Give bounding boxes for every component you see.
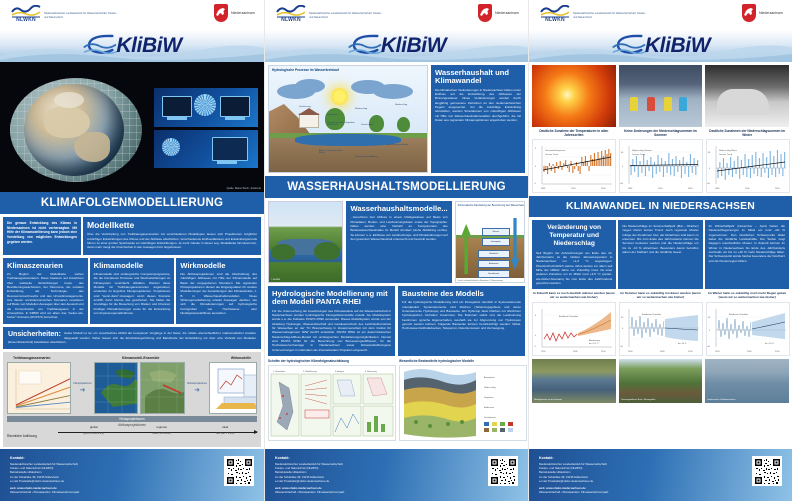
cycle-label: Verdunstung <box>299 106 311 108</box>
boot-icon <box>630 97 638 111</box>
contact-heading: Kontakt: <box>275 456 344 460</box>
wasserhaushalt-klimawandel-box: Wasserhaushalt und Klimawandel Die klima… <box>431 65 525 173</box>
panel-bausteine: Bausteine des Modells Für die hydrologis… <box>398 286 525 356</box>
figure-body: AtmosphäreNiederschlag VegetationBodenzo… <box>399 365 527 441</box>
panel-text: Für die hydrologische Modellierung wird … <box>402 300 521 330</box>
nlwkn-wordmark: NLWKN <box>540 17 570 23</box>
side-text: Die klimatischen Veränderungen in Nieder… <box>435 88 521 123</box>
poster-klimafolgenmodellierung: NLWKN Niedersächsischer Landesbetrieb fü… <box>0 0 264 501</box>
poster3-projection-charts: Bandbreite ProjektionAbweichungbis +3,5 … <box>529 302 792 359</box>
poster2-top-row: Hydrologische Prozesse im Wasserkreislau… <box>265 62 528 176</box>
contact-block: Kontakt: Niedersächsischer Landesbetrieb… <box>539 456 608 494</box>
schematic-title: Schematische Darstellung der Berechnung … <box>458 204 525 207</box>
projection-caption: Im Sommer kann es zukünftig trockener we… <box>619 292 703 300</box>
schematic-box: Grundwasser <box>478 270 510 278</box>
schematic-box: Interzeption <box>482 238 510 246</box>
poster3-observed-charts: JahresmitteltemperaturLinearer Trend 30-… <box>529 139 792 196</box>
contact-heading: Kontakt: <box>539 456 608 460</box>
klibiw-wordmark: KliBiW <box>381 34 446 58</box>
resolution-scale: Räumliche Auflösung global grob (150-200… <box>7 429 257 445</box>
poster2-title: WASSERHAUSHALTSMODELLIERUNG <box>265 176 528 198</box>
poster-klimawandel-niedersachsen: NLWKN Niedersächsischer Landesbetrieb fü… <box>528 0 792 501</box>
poster2-two-panels: Hydrologische Modellierung mit dem Model… <box>265 286 528 359</box>
schematic-box: Oberfläche <box>478 250 510 258</box>
klibiw-banner: KliBiW <box>529 30 792 62</box>
chain-heading-impact: Wirkmodelle <box>231 356 251 360</box>
contact-email[interactable]: e-mail: Poststelle@nlwkn.niedersachsen.d… <box>539 479 608 483</box>
resolution-tick: regional mittel (10-50 km) <box>136 425 186 435</box>
svg-text:3. Analyse: 3. Analyse <box>335 370 345 373</box>
svg-text:bis +3,5 °C: bis +3,5 °C <box>589 343 599 345</box>
contact-web-path: Wasserwirtschaft › Klimawandel › Klimawa… <box>10 490 79 494</box>
intro-lead-box: Die genaue Entwicklung des Klimas in Nie… <box>3 217 81 255</box>
qr-code[interactable] <box>488 456 518 486</box>
chart-winter-precip-projection: Bandbreite Projektionbis +20 % 600-40 19… <box>706 302 790 356</box>
footer-contact: Kontakt: Niedersächsischer Landesbetrieb… <box>529 449 792 501</box>
niedersachsen-logo: Niedersachsen <box>478 4 519 22</box>
poster3-title: KLIMAWANDEL IN NIEDERSACHSEN <box>529 196 792 217</box>
column-text: Die Abflussprojektionen sind die Abschät… <box>180 272 257 315</box>
poster-sheet: NLWKN Niedersächsischer Landesbetrieb fü… <box>0 0 792 501</box>
chain-headings: Treibhausgasszenarien Klimamodell-Ensemb… <box>7 356 257 360</box>
svg-text:1. Klimadaten: 1. Klimadaten <box>273 370 285 373</box>
niedersachsen-label: Niedersachsen <box>759 11 783 15</box>
svg-text:Linearer Trend: Linearer Trend <box>545 154 558 156</box>
nlwkn-org-name: Niedersächsischer Landesbetrieb für Wass… <box>44 5 118 19</box>
cloud-icon <box>295 79 325 93</box>
masthead: NLWKN Niedersächsischer Landesbetrieb fü… <box>529 0 792 30</box>
figure-soil-layers: Wesentliche Bestandteile hydrologischer … <box>399 359 527 441</box>
low-water-photo: Niedrigwasser an der Innerste <box>532 359 616 403</box>
svg-text:Niederschlag: Niederschlag <box>484 387 496 389</box>
photo-caption: Keine Änderungen der Niederschlagsummen … <box>619 129 703 137</box>
poster2-wh-row: © NLWKN Wasserhaushaltsmodelle... ...ber… <box>265 198 528 286</box>
svg-text:2. Modellierung: 2. Modellierung <box>303 371 317 373</box>
boot-icon <box>679 97 687 111</box>
panel-panta-rhei: Hydrologische Modellierung mit dem Model… <box>268 286 395 356</box>
globe-icon <box>162 138 180 156</box>
nlwkn-org-name: Niedersächsischer Landesbetrieb für Wass… <box>573 5 647 19</box>
intro-lead-text: Die genaue Entwicklung des Klimas in Nie… <box>7 221 77 244</box>
wh-text: ...berechnen den Abfluss in einem Fließg… <box>350 215 447 241</box>
poster3-bottom-photos: Niedrigwasser an der Innerste Trockengef… <box>529 359 792 407</box>
monitor-icon <box>162 96 192 117</box>
klibiw-logo: KliBiW <box>347 33 446 59</box>
panel-text: Für die Untersuchung der Auswirkungen de… <box>272 309 391 352</box>
column-heading: Klimaszenarien <box>7 262 84 270</box>
column-lead: Veränderung von Temperatur und Niedersch… <box>532 220 616 289</box>
poster3-projection-captions: In Zukunft kann es noch deutlich wärmer … <box>529 292 792 302</box>
flood-photo: Hochwasser in Niedersachsen <box>705 359 789 403</box>
svg-text:Atmosphäre: Atmosphäre <box>484 376 496 379</box>
wh-heading: Wasserhaushaltsmodelle... <box>350 205 447 213</box>
photo-credit: © NLWKN <box>271 279 280 281</box>
niedersachsen-label: Niedersachsen <box>231 11 255 15</box>
water-cycle-title: Hydrologische Prozesse im Wasserkreislau… <box>272 68 339 72</box>
lead-text: Seit Beginn der Aufzeichnungen am Ende d… <box>536 251 612 286</box>
modellkette-box: Modellkette Über die Verknüpfung von Tre… <box>83 217 261 255</box>
svg-text:Niederschlag Winter: Niederschlag Winter <box>719 149 737 152</box>
side-heading: Wasserhaushalt und Klimawandel <box>435 69 521 86</box>
resolution-axis: global grob (150-200 km) regional mittel… <box>58 429 257 443</box>
niedersachsen-logo: Niedersachsen <box>214 4 255 22</box>
column-winter: Im Winterhalbjahr (November – April) hab… <box>705 220 789 289</box>
chain-caption-main: Klimaprojektionen <box>7 416 257 422</box>
cycle-label: Niederschlag <box>355 108 367 110</box>
screens-graphic <box>154 88 258 168</box>
chart-summer-precip-observed: Niederschlag SommerLinearer Trend 600-60… <box>619 139 703 193</box>
poster3-photo-captions: Deutliche Zunahme der Temperaturen in al… <box>529 129 792 139</box>
svg-text:Bandbreite Projektion: Bandbreite Projektion <box>559 315 578 318</box>
klibiw-wordmark: KliBiW <box>645 34 710 58</box>
svg-text:Jahresmitteltemperatur: Jahresmitteltemperatur <box>545 149 566 152</box>
resolution-label: Räumliche Auflösung <box>7 434 55 438</box>
svg-text:bis +20 %: bis +20 % <box>765 343 774 345</box>
nlwkn-logo: NLWKN Niedersächsischer Landesbetrieb fü… <box>540 5 647 23</box>
column-heading: Klimamodelle <box>94 262 171 270</box>
svg-text:Bandbreite Projektion: Bandbreite Projektion <box>642 313 661 316</box>
svg-text:Bandbreite Projektion: Bandbreite Projektion <box>729 313 748 316</box>
contact-block: Kontakt: Niedersächsischer Landesbetrieb… <box>10 456 79 494</box>
schematic-box: Schnee <box>482 228 510 236</box>
svg-text:Vegetation: Vegetation <box>484 396 493 399</box>
hero-image-globe: Quelle: Rainer Sturm / pixelio.de <box>0 62 264 192</box>
poster-wasserhaushaltsmodellierung: NLWKN Niedersächsischer Landesbetrieb fü… <box>264 0 528 501</box>
wasserhaushaltsmodelle-box: Wasserhaushaltsmodelle... ...berechnen d… <box>346 201 451 283</box>
klibiw-wordmark: KliBiW <box>116 34 181 58</box>
chain-heading-scenarios: Treibhausgasszenarien <box>13 356 51 360</box>
sun-photo <box>532 65 616 127</box>
image-credit: Quelle: Rainer Sturm / pixelio.de <box>227 187 261 190</box>
chain-row: Klimaprojektionen ➜ <box>7 362 257 414</box>
impact-model-graphic <box>209 362 257 414</box>
arrow-right-icon: ➜ <box>73 386 91 394</box>
projection-caption: In Zukunft kann es noch deutlich wärmer … <box>532 292 616 300</box>
figure-workflow: Schritte der hydrologischen Klimafolgena… <box>268 359 396 441</box>
column-text: Im Winterhalbjahr (November – April) hab… <box>709 224 785 263</box>
column-klimamodelle: Klimamodelle Klimamodelle sind umfangrei… <box>90 258 175 325</box>
poster2-figure-row: Schritte der hydrologischen Klimafolgena… <box>265 359 528 444</box>
photo-caption: Trockengefallener Bach, Wesergebiet <box>621 399 656 401</box>
svg-text:Linearer Trend: Linearer Trend <box>719 154 732 156</box>
cycle-label: Speicherung im Boden <box>387 144 415 146</box>
klibiw-banner: KliBiW <box>265 30 528 62</box>
snow-car-photo <box>705 65 789 127</box>
bush-shape <box>271 244 295 260</box>
water-balance-schematic: Schematische Darstellung der Berechnung … <box>455 201 525 283</box>
water-cycle-diagram: Hydrologische Prozesse im Wasserkreislau… <box>268 65 428 173</box>
arrow-right-icon: ➜ <box>187 386 207 394</box>
screen-panel-bottom <box>154 130 258 169</box>
chart-winter-precip-observed: Niederschlag WinterLinearer Trend 800-60… <box>706 139 790 193</box>
poster3-text-columns: Veränderung von Temperatur und Niedersch… <box>529 217 792 292</box>
contact-email[interactable]: e-mail: Poststelle@nlwkn.niedersachsen.d… <box>10 479 79 483</box>
projection-caption: Im Winter kann es zukünftig noch mehr Re… <box>705 292 789 300</box>
globe-graphic <box>6 68 146 186</box>
contact-web-path: Wasserwirtschaft › Klimawandel › Klimawa… <box>539 490 608 494</box>
column-summer: Die Niederschläge im Sommerhalbjahr (Mai… <box>618 220 702 289</box>
house-icon <box>299 113 319 128</box>
panel-heading: Hydrologische Modellierung mit dem Model… <box>272 290 391 307</box>
chain-heading-ensemble: Klimamodell-Ensemble <box>122 356 159 360</box>
svg-text:4. Bewertung: 4. Bewertung <box>365 370 377 373</box>
niedersachsen-logo: Niedersachsen <box>742 4 783 22</box>
resolution-tick: lokal fein (ka. < 1 km) <box>200 425 250 435</box>
cycle-label: Abfluss (Gewässer, Bach, Fluss) <box>319 150 349 155</box>
screen-panel-top <box>154 88 258 127</box>
masthead: NLWKN Niedersächsischer Landesbetrieb fü… <box>0 0 264 30</box>
photo-caption: Deutliche Zunahmen der Niederschlagsumme… <box>705 129 789 137</box>
svg-text:Abweichung: Abweichung <box>589 339 600 342</box>
svg-text:Bodenzone: Bodenzone <box>484 407 495 409</box>
niedersachsen-label: Niedersachsen <box>495 11 519 15</box>
svg-text:Grundwasser: Grundwasser <box>484 417 496 419</box>
continent-shape <box>74 132 110 162</box>
column-text: Klimamodelle sind umfangreiche Computerp… <box>94 272 171 315</box>
svg-text:Linearer Trend: Linearer Trend <box>632 154 645 156</box>
poster1-title: KLIMAFOLGENMODELLIERUNG <box>0 192 264 214</box>
dry-stream-photo: Trockengefallener Bach, Wesergebiet <box>619 359 703 403</box>
modellkette-heading: Modellkette <box>87 221 257 230</box>
nlwkn-wordmark: NLWKN <box>276 17 306 23</box>
nlwkn-wave-icon: NLWKN <box>276 5 306 23</box>
klibiw-banner: KliBiW <box>0 30 264 62</box>
cloud-icon <box>373 84 413 99</box>
river-water <box>295 134 401 146</box>
column-klimaszenarien: Klimaszenarien Zu Beginn der Modellkette… <box>3 258 88 325</box>
svg-text:bis -10 %: bis -10 % <box>678 343 687 345</box>
poster1-three-columns: Klimaszenarien Zu Beginn der Modellkette… <box>0 258 264 328</box>
modellkette-text: Über die Verknüpfung von Treibhausgassze… <box>87 232 257 249</box>
bush-shape <box>314 242 340 260</box>
nlwkn-logo: NLWKN Niedersächsischer Landesbetrieb fü… <box>276 5 383 23</box>
unsicherheiten-label: Unsicherheiten: <box>8 331 61 338</box>
car-shape <box>717 89 769 115</box>
photo-caption: Niedrigwasser an der Innerste <box>534 399 562 401</box>
contact-heading: Kontakt: <box>10 456 79 460</box>
photo-caption: Hochwasser in Niedersachsen <box>707 399 735 401</box>
global-climate-model-map <box>94 362 139 414</box>
qr-code[interactable] <box>224 456 254 486</box>
tree-icon <box>397 117 410 132</box>
schematic-credit: Quelle: Leichtweiß-Institut für Wasserba… <box>458 280 503 282</box>
column-text: Die Niederschläge im Sommerhalbjahr (Mai… <box>622 224 698 254</box>
monitor-icon <box>212 137 248 161</box>
figure-caption: Wesentliche Bestandteile hydrologischer … <box>399 359 527 363</box>
resolution-tick: global grob (150-200 km) <box>69 425 119 435</box>
contact-block: Kontakt: Niedersächsischer Landesbetrieb… <box>275 456 344 494</box>
cycle-label: Niederschlag <box>395 104 407 106</box>
figure-caption: Schritte der hydrologischen Klimafolgena… <box>268 359 396 363</box>
unsicherheiten-box: Unsicherheiten: Jedes Modell ist nur ein… <box>3 327 261 349</box>
monitor-icon <box>220 96 250 117</box>
chart-summer-precip-projection: Bandbreite Projektionbis -10 % 500-50 19… <box>619 302 703 356</box>
cycle-label: Speicherung durch Vegetation und Schnee <box>327 122 355 127</box>
poster3-photo-row <box>529 62 792 129</box>
sun-icon <box>331 88 348 105</box>
panel-heading: Bausteine des Modells <box>402 290 521 298</box>
cycle-label: Versickerung <box>361 124 387 126</box>
chain-arrow-1: Klimaprojektionen ➜ <box>73 383 91 393</box>
contact-web-path: Wasserwirtschaft › Klimawandel › Klimawa… <box>275 490 344 494</box>
nlwkn-logo: NLWKN Niedersächsischer Landesbetrieb fü… <box>11 5 118 23</box>
coat-of-arms-icon <box>214 4 228 22</box>
footer-contact: Kontakt: Niedersächsischer Landesbetrieb… <box>0 449 264 501</box>
klibiw-logo: KliBiW <box>611 33 710 59</box>
masthead: NLWKN Niedersächsischer Landesbetrieb fü… <box>265 0 528 30</box>
tree-icon <box>325 108 345 130</box>
chart-temperature-projection: Bandbreite ProjektionAbweichungbis +3,5 … <box>532 302 616 356</box>
figure-body: 1. Klimadaten 2. Modellierung 3. Analyse… <box>268 365 396 441</box>
lead-title: Veränderung von Temperatur und Niedersch… <box>536 224 612 248</box>
model-chain-figure: Treibhausgasszenarien Klimamodell-Ensemb… <box>3 352 261 447</box>
coat-of-arms-icon <box>478 4 492 22</box>
poster1-intro-row: Die genaue Entwicklung des Klimas in Nie… <box>0 214 264 258</box>
earth-globe <box>24 84 124 176</box>
continent-shape <box>54 92 84 108</box>
river-landscape-photo: © NLWKN <box>268 201 343 283</box>
chain-arrow-2: Abflussprojektionen ➜ <box>187 383 207 393</box>
nlwkn-wave-icon: NLWKN <box>11 5 41 23</box>
nlwkn-wave-icon: NLWKN <box>540 5 570 23</box>
globe-icon <box>194 94 216 116</box>
regional-climate-model-map <box>140 362 185 414</box>
rain-boots-photo <box>619 65 703 127</box>
column-text: Zu Beginn der Modellkette stehen Treibha… <box>7 272 84 319</box>
chart-temperature-anomaly-observed: JahresmitteltemperaturLinearer Trend 30-… <box>532 139 616 193</box>
photo-caption: Deutliche Zunahme der Temperaturen in al… <box>532 129 616 137</box>
cycle-label: Interzeption <box>327 114 338 116</box>
klibiw-logo: KliBiW <box>82 33 181 59</box>
schematic-box: Bodenzone <box>478 260 510 268</box>
cycle-label: Grundwasserneubildung <box>355 156 385 158</box>
column-heading: Wirkmodelle <box>180 262 257 270</box>
boot-icon <box>647 97 655 111</box>
qr-code[interactable] <box>752 456 782 486</box>
nlwkn-org-name: Niedersächsischer Landesbetrieb für Wass… <box>309 5 383 19</box>
svg-text:Niederschlag Sommer: Niederschlag Sommer <box>632 150 652 152</box>
nlwkn-wordmark: NLWKN <box>11 17 41 23</box>
footer-contact: Kontakt: Niedersächsischer Landesbetrieb… <box>265 449 528 501</box>
scenario-chart <box>7 362 71 414</box>
boot-icon <box>664 97 672 111</box>
column-wirkmodelle: Wirkmodelle Die Abflussprojektionen sind… <box>176 258 261 325</box>
coat-of-arms-icon <box>742 4 756 22</box>
contact-email[interactable]: e-mail: Poststelle@nlwkn.niedersachsen.d… <box>275 479 344 483</box>
